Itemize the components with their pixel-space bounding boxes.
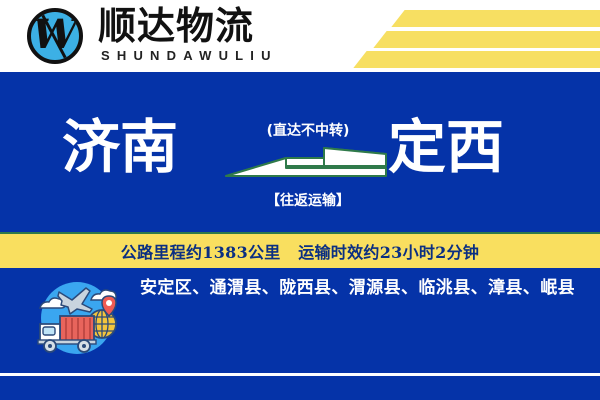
coverage-panel: 安定区、通渭县、陇西县、渭源县、临洮县、漳县、岷县	[0, 268, 600, 400]
logo-w-glyph: W	[33, 15, 78, 55]
circle-w-logo-icon: W	[27, 8, 83, 64]
banner-header: W 顺达物流 SHUNDAWULIU	[0, 0, 600, 72]
route-origin-city: 济南	[62, 118, 178, 176]
decor-stripe-2	[373, 31, 600, 48]
decor-stripe-1	[391, 10, 600, 27]
logistics-route-banner: W 顺达物流 SHUNDAWULIU 济南 定西 (直达不中转) 【往返运输】 …	[0, 0, 600, 400]
route-note-roundtrip: 【往返运输】	[248, 190, 368, 210]
route-info-band: 公路里程约1383公里 运输时效约23小时2分钟	[0, 232, 600, 268]
double-arrow-icon	[224, 146, 388, 180]
logistics-truck-globe-icon	[28, 278, 126, 354]
bottom-divider	[0, 373, 600, 376]
coverage-area-list: 安定区、通渭县、陇西县、渭源县、临洮县、漳县、岷县	[140, 276, 588, 301]
route-info-text: 公路里程约1383公里 运输时效约23小时2分钟	[121, 239, 479, 263]
route-note-direct: (直达不中转)	[248, 120, 368, 140]
route-destination-city: 定西	[388, 118, 504, 176]
brand-name-cn: 顺达物流	[98, 6, 254, 46]
decor-stripe-3	[353, 51, 600, 68]
brand-name-en: SHUNDAWULIU	[101, 48, 278, 63]
